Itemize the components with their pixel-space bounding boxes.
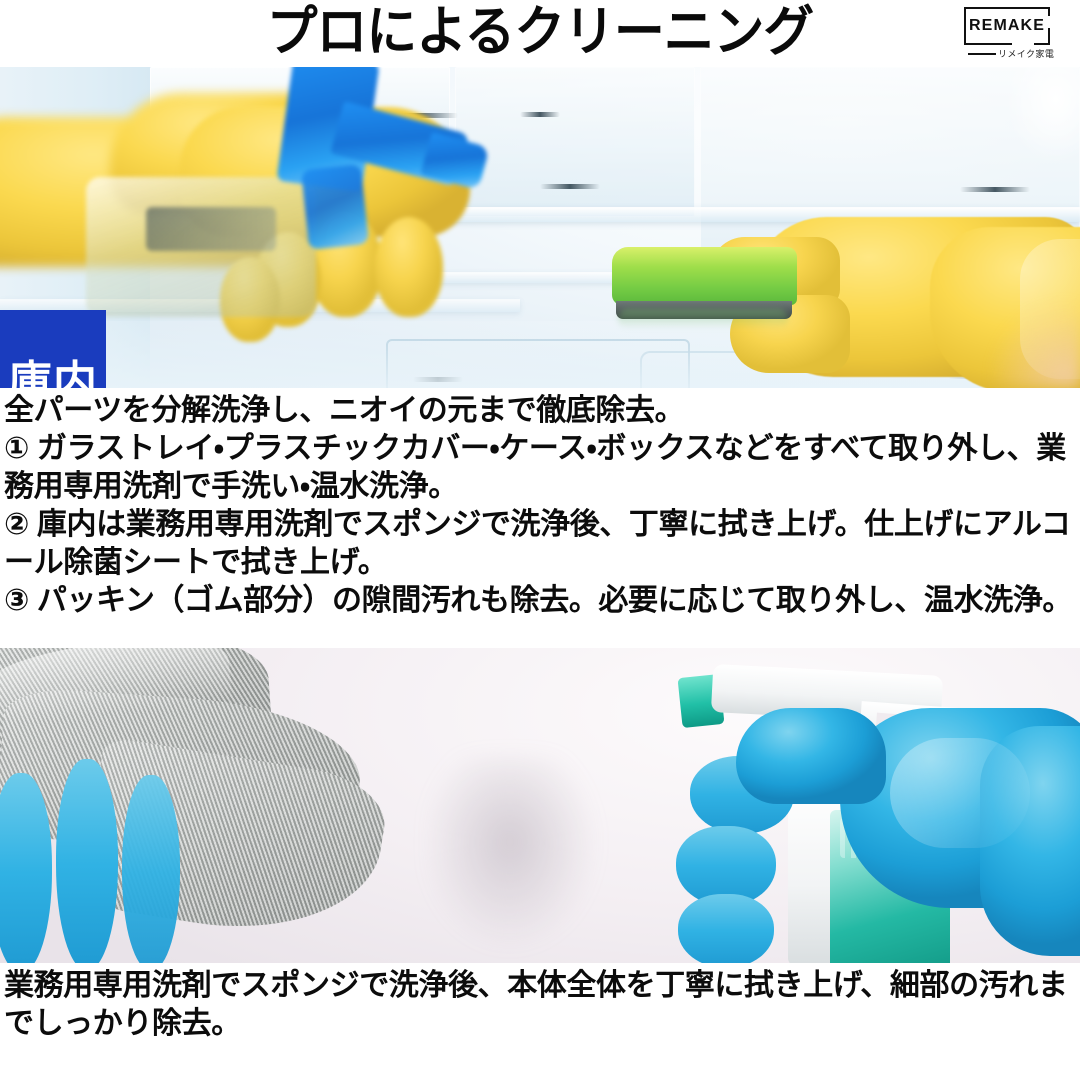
section-badge-interior: 庫内	[0, 310, 106, 388]
blue-glove-right-hand	[680, 708, 1080, 963]
fridge-door-handle-highlight	[960, 67, 1080, 197]
photo-exterior-scene	[0, 648, 1080, 963]
logo-wordmark: REMAKE	[964, 7, 1050, 45]
photo-fridge-interior-cleaning: 庫内	[0, 67, 1080, 388]
fridge-trim-bar-2	[520, 112, 560, 117]
copy-block-exterior: 業務用専用洗剤でスポンジで洗浄後、本体全体を丁寧に拭き上げ、細部の汚れまでしっか…	[4, 967, 1076, 1043]
exterior-drop-shadow	[430, 758, 630, 963]
green-sponge	[612, 247, 802, 329]
header: プロによるクリーニング REMAKE リメイク家電	[0, 0, 1080, 67]
blue-spray-bottle-trigger	[265, 67, 495, 257]
cleaning-service-infographic: プロによるクリーニング REMAKE リメイク家電	[0, 0, 1080, 1080]
logo-rule	[968, 53, 996, 55]
photo-exterior-cleaning: 外装	[0, 648, 1080, 963]
fridge-trim-bar-3	[540, 184, 600, 189]
blue-glove-left-hand	[0, 753, 220, 963]
photo-fridge-scene	[0, 67, 1080, 388]
badge-label-interior: 庫内	[8, 361, 98, 389]
page-title: プロによるクリーニング	[32, 0, 1047, 64]
logo-subtitle: リメイク家電	[998, 47, 1054, 60]
copy-text-exterior: 業務用専用洗剤でスポンジで洗浄後、本体全体を丁寧に拭き上げ、細部の汚れまでしっか…	[4, 967, 1076, 1043]
brand-logo: REMAKE リメイク家電	[962, 5, 1066, 62]
copy-text-interior: 全パーツを分解洗浄し、ニオイの元まで徹底除去。 ① ガラストレイ・プラスチックカ…	[4, 392, 1076, 620]
copy-block-interior: 全パーツを分解洗浄し、ニオイの元まで徹底除去。 ① ガラストレイ・プラスチックカ…	[4, 392, 1076, 620]
forearm-skin-blur	[930, 258, 1080, 388]
